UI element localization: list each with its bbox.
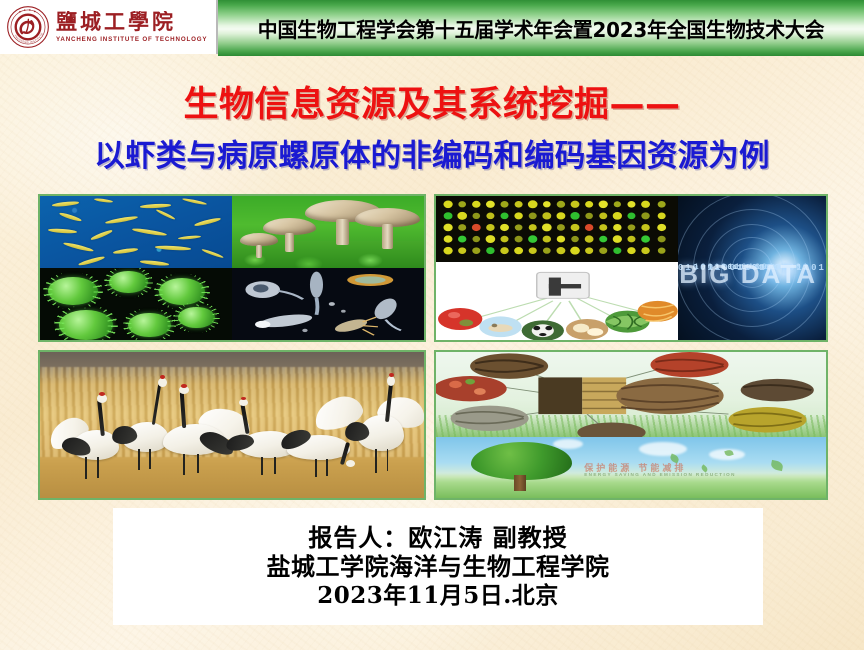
logo-chinese-name: 鹽城工學院: [56, 11, 207, 33]
conference-banner-text: 中国生物工程学会第十五届学术年会置2023年全国生物技术大会: [258, 13, 825, 43]
bacteria-micrograph-image: [40, 196, 232, 268]
conference-banner: 中国生物工程学会第十五届学术年会置2023年全国生物技术大会: [218, 0, 864, 56]
collage-panel-top-left: [38, 194, 426, 342]
eco-slogan-en: ENERGY SAVING AND EMISSION REDUCTION: [584, 472, 736, 477]
university-logo: YANCHENG INSTITUTE 鹽城工學院 YANCHENG INSTIT…: [0, 0, 218, 54]
slide-header: YANCHENG INSTITUTE 鹽城工學院 YANCHENG INSTIT…: [0, 0, 864, 56]
yancheng-institute-emblem-icon: YANCHENG INSTITUTE: [6, 5, 50, 49]
presentation-date-line: 2023年11月5日.北京: [317, 583, 559, 609]
dna-microarray-heatmap-image: [436, 196, 678, 262]
seed-samples-diagram-image: [436, 352, 826, 437]
slide-title-main: 生物信息资源及其系统挖掘——: [0, 76, 864, 127]
presenter-name-line: 报告人：欧江涛 副教授: [308, 525, 567, 552]
logo-wordmark: 鹽城工學院 YANCHENG INSTITUTE OF TECHNOLOGY: [56, 11, 207, 42]
bioinformatics-species-diagram-image: [436, 262, 678, 340]
presentation-slide: YANCHENG INSTITUTE 鹽城工學院 YANCHENG INSTIT…: [0, 0, 864, 650]
virus-particles-image: [40, 268, 232, 340]
big-data-label: BIG DATA: [679, 259, 817, 290]
collage-panel-bottom-left: [38, 350, 426, 500]
presenter-affiliation-line: 盐城工学院海洋与生物工程学院: [267, 554, 610, 581]
collage-panel-top-right: 01001100110100101101 1001011010011100101…: [434, 194, 828, 342]
plankton-larvae-image: [232, 268, 424, 340]
logo-english-name: YANCHENG INSTITUTE OF TECHNOLOGY: [56, 36, 207, 43]
eco-tree-banner-image: 保护能源 节能减排 ENERGY SAVING AND EMISSION RED…: [436, 437, 826, 498]
image-collage: 01001100110100101101 1001011010011100101…: [38, 194, 828, 500]
presenter-info-box: 报告人：欧江涛 副教授 盐城工学院海洋与生物工程学院 2023年11月5日.北京: [113, 508, 763, 625]
slide-title-sub: 以虾类与病原螺原体的非编码和编码基因资源为例: [0, 131, 864, 175]
red-crowned-cranes-image: [40, 352, 424, 498]
crane: [340, 390, 424, 475]
mushroom-fungi-image: [232, 196, 424, 268]
collage-panel-bottom-right: 保护能源 节能减排 ENERGY SAVING AND EMISSION RED…: [434, 350, 828, 500]
big-data-binary-tunnel-image: 01001100110100101101 1001011010011100101…: [678, 196, 826, 340]
tree-trunk: [514, 475, 526, 491]
